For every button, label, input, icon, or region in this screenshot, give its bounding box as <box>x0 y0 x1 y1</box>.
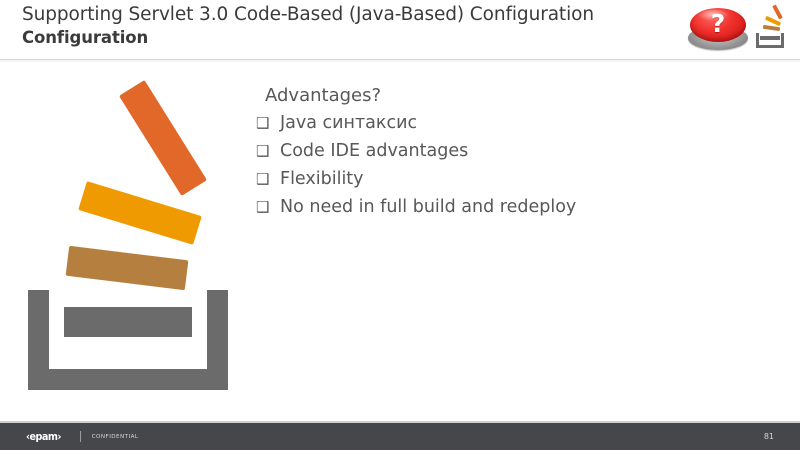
bullet-list: ❑ Java синтаксис ❑ Code IDE advantages ❑… <box>256 109 776 221</box>
button-gloss <box>697 10 729 21</box>
page-number: 81 <box>764 423 774 450</box>
list-item: ❑ Flexibility <box>256 165 776 193</box>
help-question-button[interactable]: ? <box>686 4 750 52</box>
header-title-block: Supporting Servlet 3.0 Code-Based (Java-… <box>22 3 682 49</box>
checkbox-square-icon: ❑ <box>256 193 280 221</box>
stack-overflow-logo <box>28 105 243 395</box>
epam-logo: ‹epam› <box>26 430 61 443</box>
footer-divider <box>80 431 81 442</box>
stack-overflow-icon <box>752 8 792 50</box>
checkbox-square-icon: ❑ <box>256 109 280 137</box>
logo-sheet-brown <box>66 246 189 290</box>
slide-header: Supporting Servlet 3.0 Code-Based (Java-… <box>0 0 800 60</box>
footer-left-group: ‹epam› CONFIDENTIAL <box>26 423 138 450</box>
list-item-label: No need in full build and redeploy <box>280 193 776 221</box>
checkbox-square-icon: ❑ <box>256 137 280 165</box>
list-item-label: Flexibility <box>280 165 776 193</box>
stack-bar-1 <box>772 4 783 19</box>
list-item-label: Java синтаксис <box>280 109 776 137</box>
content-lead: Advantages? <box>256 82 776 109</box>
list-item: ❑ Java синтаксис <box>256 109 776 137</box>
logo-tray <box>28 290 228 390</box>
header-icon-group: ? <box>686 2 796 54</box>
stack-tray-bar <box>760 36 780 40</box>
page-subtitle: Configuration <box>22 27 682 49</box>
list-item-label: Code IDE advantages <box>280 137 776 165</box>
logo-tray-bar <box>64 307 192 337</box>
list-item: ❑ Code IDE advantages <box>256 137 776 165</box>
page-title: Supporting Servlet 3.0 Code-Based (Java-… <box>22 3 682 27</box>
list-item: ❑ No need in full build and redeploy <box>256 193 776 221</box>
slide-content: Advantages? ❑ Java синтаксис ❑ Code IDE … <box>256 82 776 221</box>
header-divider-shadow <box>0 60 800 63</box>
slide: Supporting Servlet 3.0 Code-Based (Java-… <box>0 0 800 450</box>
checkbox-square-icon: ❑ <box>256 165 280 193</box>
confidential-label: CONFIDENTIAL <box>92 434 139 440</box>
logo-sheet-orange <box>119 80 207 196</box>
slide-footer: ‹epam› CONFIDENTIAL 81 <box>0 423 800 450</box>
